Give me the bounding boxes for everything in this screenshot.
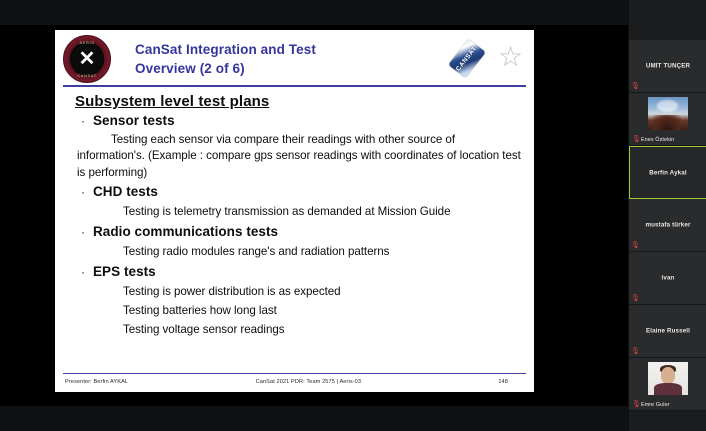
section-title: Subsystem level test plans: [75, 93, 522, 110]
eps-tests-subline-1: Testing is power distribution is as expe…: [123, 284, 522, 301]
footer-page-number: 148: [401, 379, 526, 385]
participant-name: Elaine Russell: [629, 328, 706, 335]
avatar-face: [661, 367, 675, 384]
aeris-team-logo-icon: AERIS ✕ CANSAT: [63, 35, 111, 83]
mic-muted-icon: 🎙: [631, 347, 638, 356]
participant-name-overlay: 🎙 Emre Guler: [632, 400, 704, 409]
bullet-item-chd-tests: · CHD tests: [81, 184, 522, 200]
footer-presenter: Presenter: Berfin AYKAL: [63, 379, 216, 385]
avatar-torso: [654, 383, 682, 395]
eps-tests-subline-3: Testing voltage sensor readings: [123, 322, 522, 339]
slide-title-line-1: CanSat Integration and Test: [135, 40, 435, 59]
footer-divider: [63, 373, 526, 375]
bullet-item-sensor-tests: · Sensor tests: [81, 113, 522, 129]
slide-footer: Presenter: Berfin AYKAL CanSat 2021 PDR:…: [63, 375, 526, 389]
bullet-label: CHD tests: [93, 184, 158, 200]
participant-tile-emre-guler[interactable]: 🎙 Emre Guler: [629, 358, 706, 411]
eps-tests-subline-2: Testing batteries how long last: [123, 303, 522, 320]
logo-ring-top-text: AERIS: [64, 40, 110, 45]
logo-ring-bottom-text: CANSAT: [64, 73, 110, 78]
participant-name: ivan: [629, 275, 706, 282]
bullet-glyph: ·: [81, 264, 93, 280]
mic-muted-icon: 🎙: [632, 135, 639, 144]
participant-tile-elaine-russell[interactable]: Elaine Russell 🎙: [629, 305, 706, 358]
sidebar-top-spacer: [629, 0, 706, 40]
presentation-slide: AERIS ✕ CANSAT CanSat Integration and Te…: [55, 30, 534, 392]
participant-name: ÜMİT TUNÇER: [629, 63, 706, 70]
mic-muted-icon: 🎙: [631, 294, 638, 303]
participant-name: Emre Guler: [641, 402, 670, 408]
participant-tile-berfin-aykal-active-speaker[interactable]: Berfin Aykal: [629, 146, 706, 199]
shared-screen-stage[interactable]: AERIS ✕ CANSAT CanSat Integration and Te…: [0, 0, 628, 431]
cansat-logo-icon: CANSAT ☆: [454, 38, 494, 78]
bullet-glyph: ·: [81, 113, 93, 129]
slide-header: AERIS ✕ CANSAT CanSat Integration and Te…: [55, 30, 534, 87]
participant-video-thumbnail: [648, 97, 688, 130]
participant-name: mustafa türker: [629, 222, 706, 229]
slide-title: CanSat Integration and Test Overview (2 …: [135, 40, 435, 78]
bullet-label: Radio communications tests: [93, 224, 278, 240]
cansat-can-icon: CANSAT: [448, 39, 486, 79]
participant-name-overlay: 🎙 Enes Öztekin: [632, 135, 704, 144]
mic-muted-icon: 🎙: [631, 241, 638, 250]
bullet-item-eps-tests: · EPS tests: [81, 264, 522, 280]
logo-x-mark-icon: ✕: [79, 49, 96, 69]
bullet-label: Sensor tests: [93, 113, 175, 129]
participant-tile-enes-oztekin[interactable]: 🎙 Enes Öztekin: [629, 93, 706, 146]
bullet-label: EPS tests: [93, 264, 156, 280]
slide-body: Subsystem level test plans · Sensor test…: [55, 88, 534, 364]
chd-tests-subline-1: Testing is telemetry transmission as dem…: [123, 204, 522, 221]
participant-name: Berfin Aykal: [630, 169, 706, 176]
footer-center-text: CanSat 2021 PDR: Team 2575 | Aeris-03: [216, 379, 401, 385]
sensor-tests-paragraph: Testing each sensor via compare their re…: [77, 132, 522, 181]
participant-video-thumbnail: [648, 362, 688, 395]
participant-sidebar[interactable]: ÜMİT TUNÇER 🎙 🎙 Enes Öztekin Berfin Ayka…: [628, 0, 706, 431]
bullet-glyph: ·: [81, 224, 93, 240]
participant-name: Enes Öztekin: [641, 137, 674, 143]
mic-muted-icon: 🎙: [631, 82, 638, 91]
slide-title-line-2: Overview (2 of 6): [135, 59, 435, 78]
meeting-screen-share-window: AERIS ✕ CANSAT CanSat Integration and Te…: [0, 0, 706, 431]
bullet-item-radio-communications-tests: · Radio communications tests: [81, 224, 522, 240]
participant-tile-mustafa-turker[interactable]: mustafa türker 🎙: [629, 199, 706, 252]
header-divider: [63, 85, 526, 87]
mic-muted-icon: 🎙: [632, 400, 639, 409]
participant-tile-ivan[interactable]: ivan 🎙: [629, 252, 706, 305]
participant-tile-umit-tuncer[interactable]: ÜMİT TUNÇER 🎙: [629, 40, 706, 93]
cansat-can-label: CANSAT: [455, 45, 479, 73]
bullet-glyph: ·: [81, 184, 93, 200]
radio-tests-subline-1: Testing radio modules range's and radiat…: [123, 244, 522, 261]
